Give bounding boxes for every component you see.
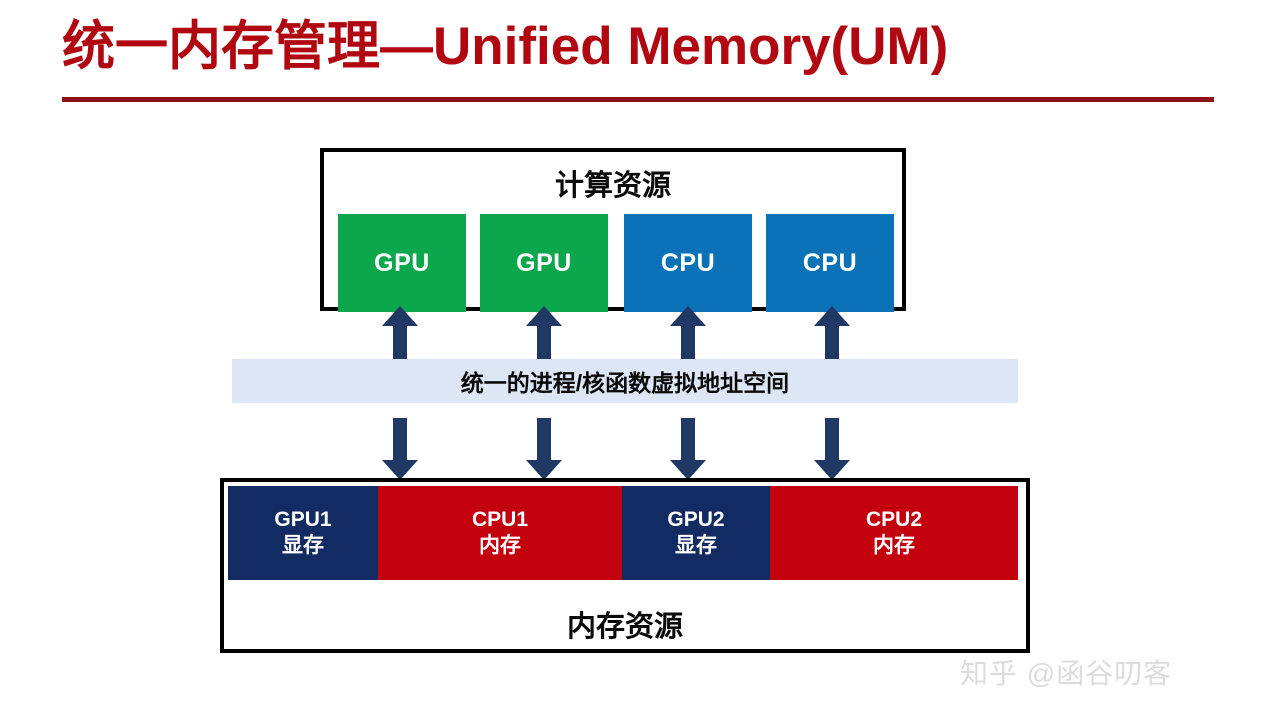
unified-address-space-label: 统一的进程/核函数虚拟地址空间 xyxy=(461,364,789,398)
memory-segment-cpu2: CPU2 内存 xyxy=(770,486,1018,580)
memory-segment-gpu1: GPU1 显存 xyxy=(228,486,378,580)
unified-address-space-band: 统一的进程/核函数虚拟地址空间 xyxy=(232,359,1018,403)
memory-segment-type: 内存 xyxy=(479,533,521,559)
watermark: 知乎 @函谷叨客 xyxy=(960,652,1172,692)
memory-segment-name: GPU1 xyxy=(274,507,331,533)
arrow-down-icon-3 xyxy=(670,418,706,480)
memory-segment-gpu2: GPU2 显存 xyxy=(622,486,770,580)
arrow-down-icon-1 xyxy=(382,418,418,480)
memory-segment-name: CPU1 xyxy=(472,507,528,533)
slide-canvas: 统一内存管理—Unified Memory(UM) 计算资源 GPU GPU C… xyxy=(0,0,1280,720)
memory-segment-name: GPU2 xyxy=(667,507,724,533)
compute-unit-label: GPU xyxy=(516,249,572,278)
compute-unit-label: GPU xyxy=(374,249,430,278)
arrow-down-icon-2 xyxy=(526,418,562,480)
arrow-down-icon-4 xyxy=(814,418,850,480)
compute-unit-label: CPU xyxy=(803,249,857,278)
compute-unit-gpu-1: GPU xyxy=(338,214,466,312)
memory-segment-name: CPU2 xyxy=(866,507,922,533)
title-underline-rule xyxy=(62,97,1214,102)
arrow-up-icon-2 xyxy=(526,306,562,366)
memory-segment-type: 显存 xyxy=(282,533,324,559)
compute-unit-cpu-2: CPU xyxy=(766,214,894,312)
memory-segment-type: 内存 xyxy=(873,533,915,559)
compute-resources-title: 计算资源 xyxy=(324,162,902,204)
memory-segment-cpu1: CPU1 内存 xyxy=(378,486,622,580)
compute-unit-gpu-2: GPU xyxy=(480,214,608,312)
compute-unit-cpu-1: CPU xyxy=(624,214,752,312)
memory-resources-title: 内存资源 xyxy=(220,603,1030,645)
memory-segment-type: 显存 xyxy=(675,533,717,559)
arrow-up-icon-4 xyxy=(814,306,850,366)
compute-unit-label: CPU xyxy=(661,249,715,278)
page-title: 统一内存管理—Unified Memory(UM) xyxy=(62,18,1222,76)
arrow-up-icon-1 xyxy=(382,306,418,366)
arrow-up-icon-3 xyxy=(670,306,706,366)
